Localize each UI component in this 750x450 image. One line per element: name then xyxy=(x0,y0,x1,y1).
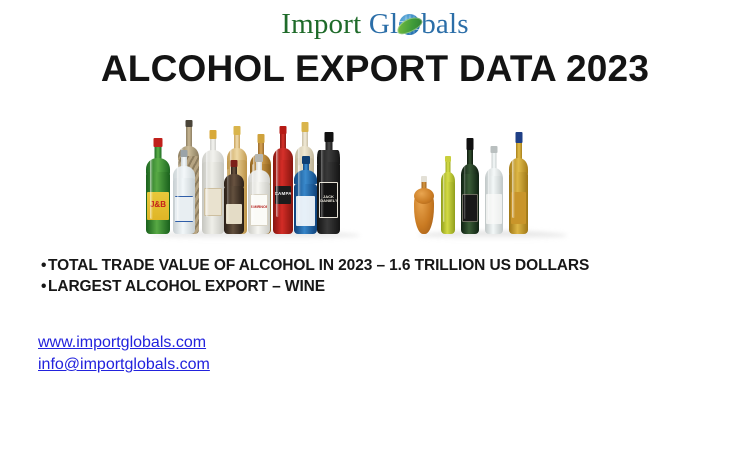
logo-text-gl: Gl xyxy=(369,8,398,40)
tall-vodka-bottle xyxy=(173,150,195,234)
bullet-item-1: •TOTAL TRADE VALUE OF ALCOHOL IN 2023 – … xyxy=(41,255,731,276)
bullet-text-1: TOTAL TRADE VALUE OF ALCOHOL IN 2023 – 1… xyxy=(48,257,589,274)
jb-label-text: J&B xyxy=(147,192,168,209)
page-title: ALCOHOL EXPORT DATA 2023 xyxy=(0,48,750,90)
dark-green-wine-bottle xyxy=(461,138,479,234)
logo-text-bals: bals xyxy=(421,8,469,40)
amber-gourd-decanter xyxy=(414,176,434,234)
logo-text-import: Import xyxy=(281,8,361,40)
assorted-liquor-bottles-photo: CAMPARI JACK DANIEL'S xyxy=(142,98,364,240)
campari-label-text: CAMPARI xyxy=(275,186,292,197)
five-bottles-photo xyxy=(412,122,570,240)
smirnoff-vodka-bottle: SMIRNOFF xyxy=(248,154,270,234)
brand-logo: Import Glbals xyxy=(0,6,750,42)
smirnoff-label: SMIRNOFF xyxy=(250,194,269,226)
clear-spirit-bottle xyxy=(202,130,224,234)
campari-bottle: CAMPARI xyxy=(273,126,293,234)
jb-label: J&B xyxy=(147,192,168,220)
bullet-marker: • xyxy=(41,255,48,276)
globe-icon xyxy=(398,13,421,36)
golden-olive-oil-bottle xyxy=(509,132,528,234)
slide-canvas: Import Glbals ALCOHOL EXPORT DATA 2023 xyxy=(0,0,750,450)
jack-daniels-bottle: JACK DANIEL'S xyxy=(317,132,340,234)
bombay-sapphire-bottle xyxy=(294,156,317,234)
jack-daniels-label: JACK DANIEL'S xyxy=(319,182,337,218)
jb-whisky-bottle: J&B xyxy=(146,138,170,234)
bullet-text-2: LARGEST ALCOHOL EXPORT – WINE xyxy=(48,278,325,295)
clear-glass-bottle xyxy=(485,146,503,234)
bullet-marker: • xyxy=(41,276,48,297)
contact-links: www.importglobals.com info@importglobals… xyxy=(38,332,210,376)
yellow-green-bottle xyxy=(441,156,455,234)
website-link[interactable]: www.importglobals.com xyxy=(38,332,210,354)
email-link[interactable]: info@importglobals.com xyxy=(38,354,210,376)
bullet-item-2: •LARGEST ALCOHOL EXPORT – WINE xyxy=(41,276,731,297)
dark-rum-bottle xyxy=(224,160,244,234)
logo-space xyxy=(361,8,368,40)
smirnoff-label-text: SMIRNOFF xyxy=(251,195,268,209)
bullet-list: •TOTAL TRADE VALUE OF ALCOHOL IN 2023 – … xyxy=(41,255,731,297)
campari-label: CAMPARI xyxy=(275,186,292,204)
jack-daniels-label-text: JACK DANIEL'S xyxy=(320,183,336,203)
photo-row: CAMPARI JACK DANIEL'S xyxy=(0,98,750,240)
